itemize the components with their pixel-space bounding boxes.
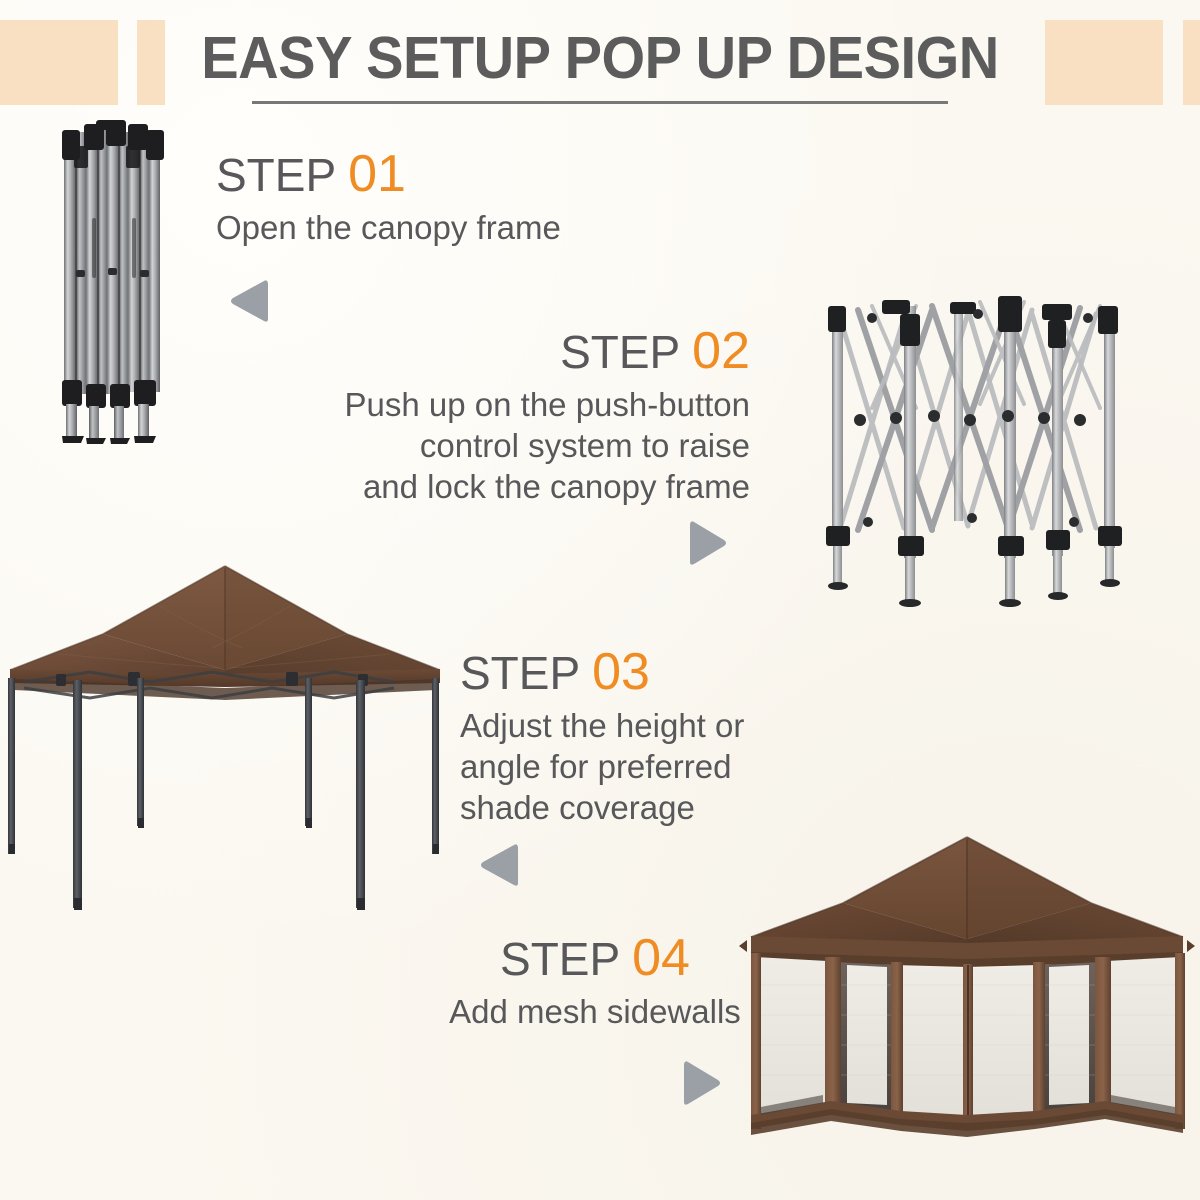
- arrow-left-icon-1: [228, 279, 270, 323]
- expanded-canopy-frame-image: [812, 278, 1134, 608]
- step-04-number: 04: [632, 929, 690, 987]
- step-03-description-line-1: Adjust the height or: [460, 705, 780, 746]
- arrow-right-icon-2: [686, 520, 730, 566]
- step-04-heading: STEP 04: [430, 930, 760, 987]
- infographic-page: EASY SETUP POP UP DESIGN: [0, 0, 1200, 1200]
- folded-canopy-frame-image: [48, 118, 188, 448]
- step-03-block: STEP 03 Adjust the height or angle for p…: [460, 644, 780, 828]
- step-03-description-line-3: shade coverage: [460, 787, 780, 828]
- header-decor-block-left-large: [0, 20, 118, 105]
- header-decor-block-right-large: [1045, 20, 1163, 105]
- step-04-label: STEP: [500, 933, 619, 985]
- step-01-number: 01: [348, 145, 406, 203]
- step-03-heading: STEP 03: [460, 644, 780, 701]
- header-decor-block-left-thin: [137, 20, 165, 105]
- arrow-right-icon-4: [680, 1060, 724, 1106]
- arrow-left-icon-3: [478, 843, 520, 887]
- step-04-description: Add mesh sidewalls: [430, 991, 760, 1032]
- step-02-number: 02: [692, 322, 750, 380]
- step-02-heading: STEP 02: [310, 323, 750, 380]
- step-02-description-line-3: and lock the canopy frame: [310, 466, 750, 507]
- header-decor-block-right-thin: [1183, 20, 1200, 105]
- title-underline-rule: [252, 101, 948, 104]
- step-01-block: STEP 01 Open the canopy frame: [216, 146, 636, 248]
- step-01-heading: STEP 01: [216, 146, 636, 203]
- brown-canopy-gazebo-image: [0, 548, 470, 923]
- step-03-description: Adjust the height or angle for preferred…: [460, 705, 780, 828]
- step-02-description: Push up on the push-button control syste…: [310, 384, 750, 507]
- gazebo-with-mesh-sidewalls-image: [735, 815, 1200, 1200]
- step-02-block: STEP 02 Push up on the push-button contr…: [310, 323, 750, 507]
- step-03-number: 03: [592, 643, 650, 701]
- step-03-description-line-2: angle for preferred: [460, 746, 780, 787]
- step-01-label: STEP: [216, 149, 335, 201]
- step-02-description-line-2: control system to raise: [310, 425, 750, 466]
- page-title: EASY SETUP POP UP DESIGN: [201, 22, 999, 94]
- step-04-block: STEP 04 Add mesh sidewalls: [430, 930, 760, 1032]
- step-03-label: STEP: [460, 647, 579, 699]
- step-01-description: Open the canopy frame: [216, 207, 636, 248]
- step-02-description-line-1: Push up on the push-button: [310, 384, 750, 425]
- step-02-label: STEP: [560, 326, 679, 378]
